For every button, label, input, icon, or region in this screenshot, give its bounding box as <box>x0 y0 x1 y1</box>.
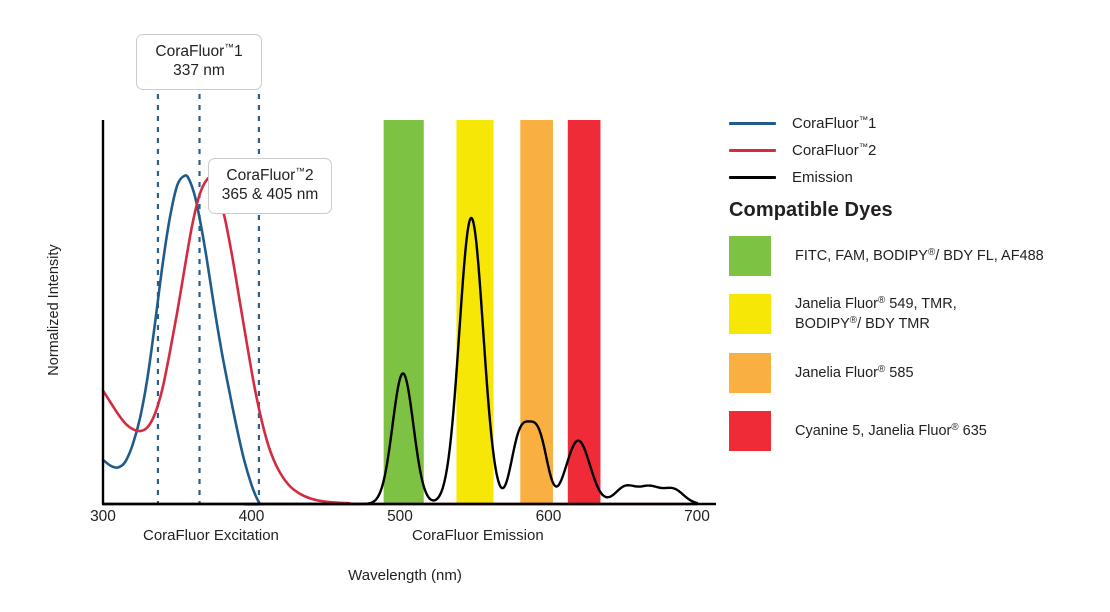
y-axis-label: Normalized Intensity <box>46 230 62 390</box>
dye-label-line: Janelia Fluor® 549, TMR, <box>795 294 957 314</box>
x-tick-700: 700 <box>667 508 727 526</box>
callout-cf1-title-number: 1 <box>234 43 243 60</box>
dye-item-3: Janelia Fluor® 585 <box>729 353 1101 393</box>
dye-item-1: FITC, FAM, BODIPY®/ BDY FL, AF488 <box>729 236 1101 276</box>
legend-line-swatch <box>729 176 776 179</box>
series-legend: CoraFluor™1CoraFluor™2Emission <box>729 110 1099 191</box>
dye-item-label: Cyanine 5, Janelia Fluor® 635 <box>795 421 987 441</box>
trademark-symbol: ™ <box>859 142 868 152</box>
registered-symbol: ® <box>878 364 885 375</box>
registered-symbol: ® <box>878 295 885 306</box>
x-axis-title: Wavelength (nm) <box>0 567 810 584</box>
callout-cf2-value: 365 & 405 nm <box>219 185 321 204</box>
x-tick-400: 400 <box>222 508 282 526</box>
callout-cf1-title-text: CoraFluor <box>155 43 224 60</box>
dye-color-swatch <box>729 353 771 393</box>
legend-item-2: CoraFluor™2 <box>729 137 1099 164</box>
compatible-dyes-list: FITC, FAM, BODIPY®/ BDY FL, AF488Janelia… <box>729 236 1101 469</box>
callout-cf2-title-number: 2 <box>305 167 314 184</box>
dye-item-label: Janelia Fluor® 585 <box>795 363 914 383</box>
orange-band <box>520 120 553 504</box>
trademark-symbol: ™ <box>295 167 305 178</box>
excitation-region-label: CoraFluor Excitation <box>143 527 279 544</box>
callout-corafluor-1: CoraFluor™1 337 nm <box>136 34 262 90</box>
callout-corafluor-2: CoraFluor™2 365 & 405 nm <box>208 158 332 214</box>
callout-cf1-title: CoraFluor™1 <box>147 42 251 61</box>
registered-symbol: ® <box>928 247 935 258</box>
trademark-symbol: ™ <box>224 43 234 54</box>
legend-item-label: CoraFluor™2 <box>792 142 876 159</box>
dye-label-line: FITC, FAM, BODIPY®/ BDY FL, AF488 <box>795 246 1044 266</box>
legend-item-3: Emission <box>729 164 1099 191</box>
callout-cf1-value: 337 nm <box>147 61 251 80</box>
legend-item-1: CoraFluor™1 <box>729 110 1099 137</box>
dye-label-line: Janelia Fluor® 585 <box>795 363 914 383</box>
legend-line-swatch <box>729 122 776 125</box>
callout-cf2-title-text: CoraFluor <box>226 167 295 184</box>
dye-item-4: Cyanine 5, Janelia Fluor® 635 <box>729 411 1101 451</box>
dye-color-swatch <box>729 411 771 451</box>
legend-line-swatch <box>729 149 776 152</box>
callout-cf2-title: CoraFluor™2 <box>219 166 321 185</box>
emission-region-label: CoraFluor Emission <box>412 527 544 544</box>
dye-color-swatch <box>729 294 771 334</box>
dye-label-line: Cyanine 5, Janelia Fluor® 635 <box>795 421 987 441</box>
x-tick-600: 600 <box>519 508 579 526</box>
legend-item-label: Emission <box>792 169 853 186</box>
registered-symbol: ® <box>951 422 958 433</box>
dye-item-2: Janelia Fluor® 549, TMR,BODIPY®/ BDY TMR <box>729 294 1101 335</box>
registered-symbol: ® <box>850 315 857 326</box>
x-tick-500: 500 <box>370 508 430 526</box>
dye-item-label: FITC, FAM, BODIPY®/ BDY FL, AF488 <box>795 246 1044 266</box>
legend-item-label: CoraFluor™1 <box>792 115 876 132</box>
dye-item-label: Janelia Fluor® 549, TMR,BODIPY®/ BDY TMR <box>795 294 957 335</box>
fluorescence-spectra-figure: CoraFluor™1 337 nm CoraFluor™2 365 & 405… <box>0 0 1110 612</box>
trademark-symbol: ™ <box>859 115 868 125</box>
dye-color-swatch <box>729 236 771 276</box>
yellow-band <box>456 120 493 504</box>
dye-label-line: BODIPY®/ BDY TMR <box>795 314 957 334</box>
x-tick-300: 300 <box>73 508 133 526</box>
compatible-dyes-title: Compatible Dyes <box>729 199 893 222</box>
